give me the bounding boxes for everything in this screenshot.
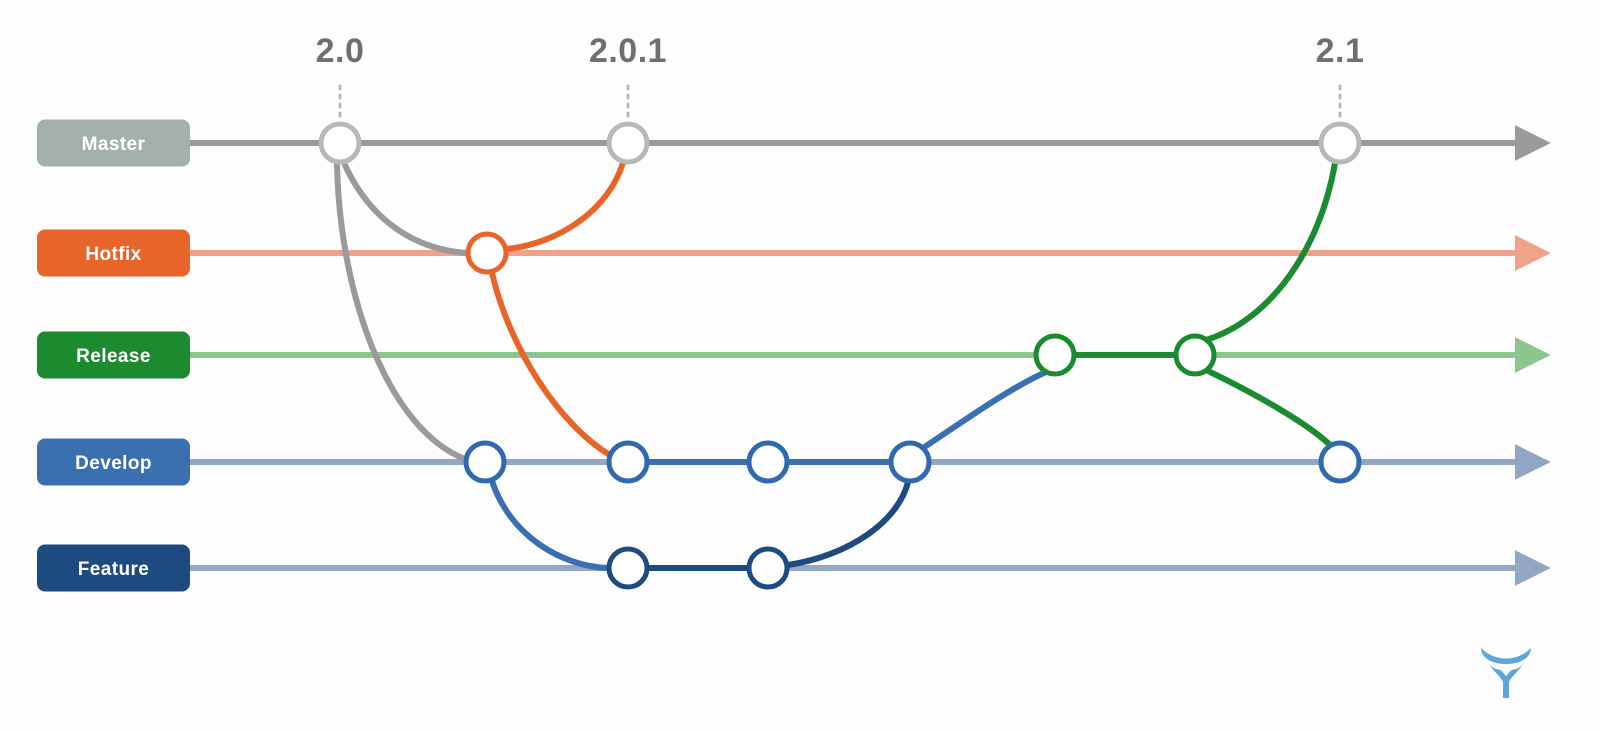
branch-label-text-feature: Feature [78, 559, 149, 580]
branch-label-develop[interactable]: Develop [37, 439, 190, 486]
curve-feature-merge-to-develop [788, 482, 908, 565]
commit-node-develop-4[interactable] [891, 443, 929, 481]
commit-node-develop-3[interactable] [749, 443, 787, 481]
version-tag-2-0-1: 2.0.1 [589, 32, 667, 118]
xebia-logo-icon[interactable] [1481, 648, 1531, 698]
commit-node-master-2[interactable] [609, 124, 647, 162]
commit-node-master-3[interactable] [1321, 124, 1359, 162]
commit-node-release-2[interactable] [1176, 336, 1214, 374]
commit-node-feature-2[interactable] [749, 549, 787, 587]
branch-label-master[interactable]: Master [37, 120, 190, 167]
logo-x-body [1487, 660, 1525, 698]
git-flow-diagram: MasterHotfixReleaseDevelopFeature 2.02.0… [0, 0, 1600, 731]
curve-master-to-hotfix-branch [344, 163, 467, 253]
version-tag-label-2: 2.1 [1316, 32, 1365, 70]
version-tag-label-1: 2.0.1 [589, 32, 667, 70]
branch-label-text-master: Master [82, 134, 146, 155]
branch-label-release[interactable]: Release [37, 332, 190, 379]
curve-develop-to-feature-branch [492, 481, 608, 568]
commit-node-feature-1[interactable] [609, 549, 647, 587]
branch-labels-layer: MasterHotfixReleaseDevelopFeature [37, 120, 190, 592]
commit-node-hotfix-1[interactable] [468, 234, 506, 272]
branch-label-hotfix[interactable]: Hotfix [37, 230, 190, 277]
diagram-canvas: MasterHotfixReleaseDevelopFeature 2.02.0… [0, 0, 1600, 731]
commit-node-develop-1[interactable] [466, 443, 504, 481]
logo-arc-top [1481, 648, 1531, 664]
branch-label-text-develop: Develop [75, 453, 152, 474]
branch-label-text-release: Release [76, 346, 151, 367]
commit-node-release-1[interactable] [1036, 336, 1074, 374]
curve-release-merge-to-develop [1206, 370, 1331, 446]
curve-hotfix-merge-to-develop [492, 273, 610, 455]
commit-node-master-1[interactable] [321, 124, 359, 162]
version-tag-2-1: 2.1 [1316, 32, 1365, 118]
version-tag-2-0: 2.0 [316, 32, 365, 118]
branch-label-text-hotfix: Hotfix [85, 244, 141, 265]
commit-node-develop-5[interactable] [1321, 443, 1359, 481]
version-tag-label-0: 2.0 [316, 32, 365, 70]
branch-label-feature[interactable]: Feature [37, 545, 190, 592]
curve-master-to-develop-branch [337, 164, 465, 459]
curve-hotfix-merge-to-master [507, 163, 623, 249]
logo-layer [1481, 648, 1531, 698]
curve-develop-to-release-branch [923, 372, 1046, 448]
commit-node-develop-2[interactable] [609, 443, 647, 481]
version-tags-layer: 2.02.0.12.1 [316, 32, 1365, 118]
